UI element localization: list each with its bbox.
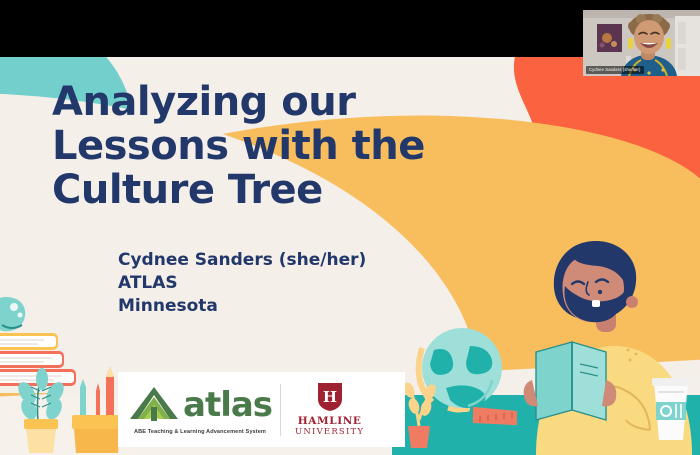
- atlas-wordmark: atlas: [183, 388, 272, 422]
- logo-card: atlas ABE Teaching & Learning Advancemen…: [118, 372, 405, 447]
- reading-man-illustration: [400, 230, 700, 455]
- webcam-name-label: Cydnee Sanders (she/her): [586, 66, 644, 74]
- title-line-3: Culture Tree: [52, 168, 482, 212]
- presentation-window: Analyzing our Lessons with the Culture T…: [0, 0, 700, 455]
- presenter-org: ATLAS: [118, 272, 366, 295]
- hamline-subtitle: UNIVERSITY: [295, 427, 364, 437]
- hamline-name: HAMLINE: [298, 415, 362, 427]
- books-and-supplies-illustration: [0, 295, 135, 455]
- title-line-1: Analyzing our: [52, 80, 482, 124]
- svg-text:H: H: [323, 388, 337, 406]
- presenter-name: Cydnee Sanders (she/her): [118, 249, 366, 272]
- atlas-logo: atlas ABE Teaching & Learning Advancemen…: [118, 385, 280, 435]
- title-line-2: Lessons with the: [52, 124, 482, 168]
- atlas-mark-icon: [128, 385, 180, 425]
- hamline-logo: H HAMLINE UNIVERSITY: [281, 382, 376, 437]
- slide-canvas: Analyzing our Lessons with the Culture T…: [0, 57, 700, 455]
- slide-title: Analyzing our Lessons with the Culture T…: [52, 80, 482, 212]
- atlas-logo-row: atlas: [128, 385, 272, 425]
- slide-byline: Cydnee Sanders (she/her) ATLAS Minnesota: [118, 249, 366, 318]
- presenter-location: Minnesota: [118, 295, 366, 318]
- webcam-video-tile[interactable]: Cydnee Sanders (she/her): [583, 10, 700, 76]
- hamline-shield-icon: H: [317, 382, 343, 412]
- atlas-tagline: ABE Teaching & Learning Advancement Syst…: [134, 429, 266, 435]
